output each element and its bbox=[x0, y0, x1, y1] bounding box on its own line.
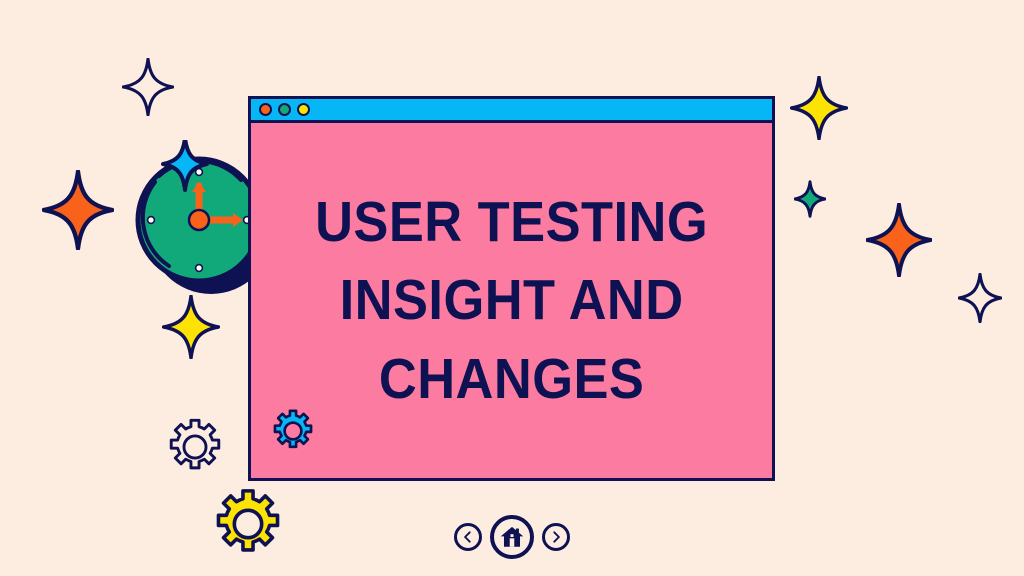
close-dot-icon[interactable] bbox=[259, 103, 272, 116]
star-orange-right bbox=[866, 203, 932, 277]
gear-cyan-icon bbox=[271, 409, 315, 458]
title-line-2: INSIGHT AND bbox=[315, 261, 708, 340]
star-yellow-topright bbox=[790, 76, 848, 140]
star-hollow-topleft bbox=[122, 58, 174, 116]
star-yellow-left bbox=[162, 295, 220, 359]
title-line-1: USER TESTING bbox=[315, 183, 708, 262]
title-line-3: CHANGES bbox=[315, 340, 708, 419]
bottom-navigation bbox=[0, 515, 1024, 559]
home-icon bbox=[499, 524, 525, 550]
next-button[interactable] bbox=[542, 523, 570, 551]
window-content: USER TESTING INSIGHT AND CHANGES bbox=[251, 123, 772, 478]
star-hollow-bottomright bbox=[958, 273, 1002, 323]
star-orange-left bbox=[42, 170, 114, 250]
app-window: USER TESTING INSIGHT AND CHANGES bbox=[248, 96, 775, 481]
maximize-dot-icon[interactable] bbox=[297, 103, 310, 116]
window-titlebar bbox=[251, 99, 772, 123]
home-button[interactable] bbox=[490, 515, 534, 559]
star-green-right bbox=[794, 180, 826, 218]
chevron-left-icon bbox=[461, 530, 475, 544]
previous-button[interactable] bbox=[454, 523, 482, 551]
page-title: USER TESTING INSIGHT AND CHANGES bbox=[306, 183, 717, 419]
minimize-dot-icon[interactable] bbox=[278, 103, 291, 116]
chevron-right-icon bbox=[549, 530, 563, 544]
slide-canvas: USER TESTING INSIGHT AND CHANGES bbox=[0, 0, 1024, 576]
gear-outline-icon bbox=[166, 418, 224, 476]
